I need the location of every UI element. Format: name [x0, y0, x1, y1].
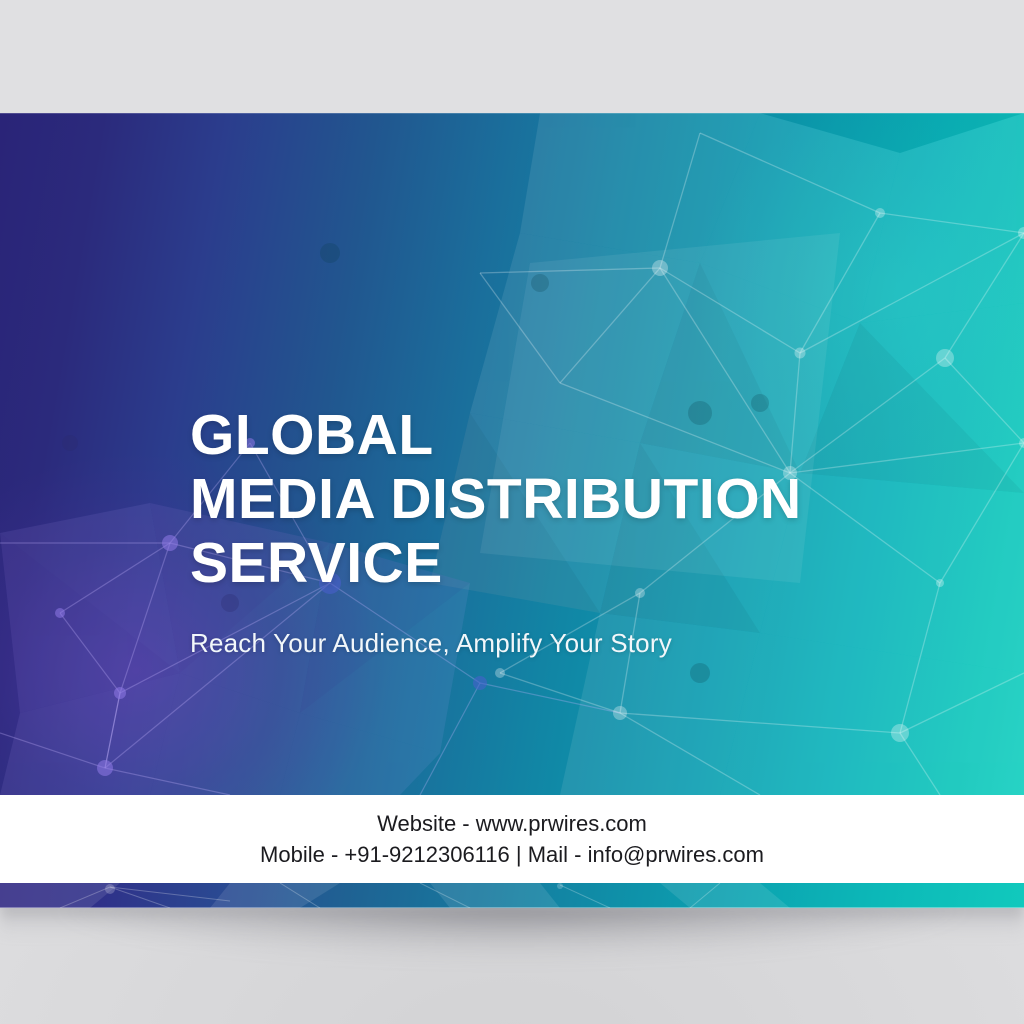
card-top-hairline: [0, 113, 1024, 114]
contact-info-bar: Website - www.prwires.com Mobile - +91-9…: [0, 795, 1024, 883]
contact-mobile-mail-line: Mobile - +91-9212306116 | Mail - info@pr…: [260, 839, 764, 870]
promotional-banner-card: GLOBAL MEDIA DISTRIBUTION SERVICE Reach …: [0, 113, 1024, 908]
headline-block: GLOBAL MEDIA DISTRIBUTION SERVICE Reach …: [190, 403, 802, 659]
headline-line-3: SERVICE: [190, 531, 802, 595]
card-bottom-hairline: [0, 907, 1024, 908]
bottom-accent-strip: [0, 883, 1024, 908]
headline-line-1: GLOBAL: [190, 403, 802, 467]
headline-line-2: MEDIA DISTRIBUTION: [190, 467, 802, 531]
banner-hero-area: GLOBAL MEDIA DISTRIBUTION SERVICE Reach …: [0, 113, 1024, 795]
banner-tagline: Reach Your Audience, Amplify Your Story: [190, 627, 802, 659]
bottom-strip-network-graphic: [0, 883, 1024, 908]
contact-website-line: Website - www.prwires.com: [377, 808, 647, 839]
